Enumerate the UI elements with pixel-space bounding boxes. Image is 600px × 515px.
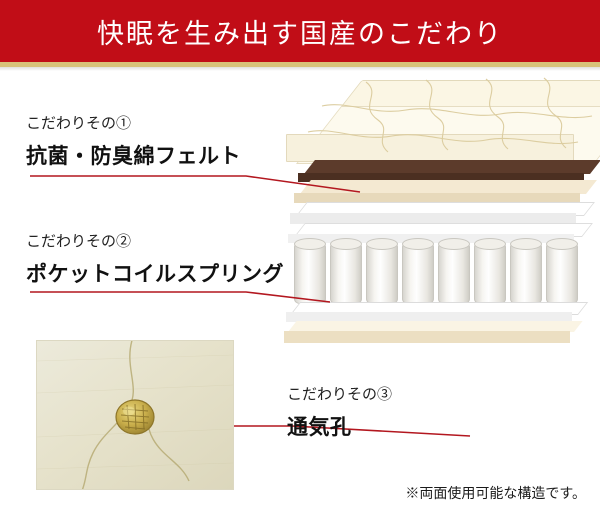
header-banner: 快眠を生み出す国産のこだわり (0, 0, 600, 62)
feature-label-3: こだわりその③ 通気孔 (287, 383, 392, 441)
leader-line-2 (30, 292, 330, 302)
feature-label-1: こだわりその① 抗菌・防臭綿フェルト (26, 112, 241, 170)
feature-label-2: こだわりその② ポケットコイルスプリング (26, 230, 284, 288)
coil-spring (294, 242, 326, 304)
coil-spring (402, 242, 434, 304)
feature-1-index: こだわりその① (26, 112, 241, 133)
coil-spring (330, 242, 362, 304)
feature-3-index: こだわりその③ (287, 383, 392, 404)
air-vent-photo (36, 340, 234, 490)
cream-pad-top (300, 180, 597, 194)
quilted-cover-front (286, 134, 574, 162)
coil-spring (366, 242, 398, 304)
mattress-illustration (286, 76, 600, 366)
banner-shadow (0, 67, 600, 71)
feature-2-name: ポケットコイルスプリング (26, 258, 284, 288)
feature-1-name: 抗菌・防臭綿フェルト (26, 140, 241, 170)
coil-spring (438, 242, 470, 304)
feature-2-index: こだわりその② (26, 230, 284, 251)
felt-layer-top (304, 160, 600, 174)
feature-3-name: 通気孔 (287, 411, 392, 441)
footnote-text: ※両面使用可能な構造です。 (405, 483, 586, 503)
coil-spring (510, 242, 542, 304)
infographic-page: 快眠を生み出す国産のこだわり (0, 0, 600, 515)
coil-spring (546, 242, 578, 304)
bottom-cream-front (284, 331, 570, 343)
coil-spring (474, 242, 506, 304)
pocket-coil-row (292, 242, 584, 306)
air-vent-photo-graphic (37, 341, 233, 489)
page-title: 快眠を生み出す国産のこだわり (97, 12, 503, 51)
